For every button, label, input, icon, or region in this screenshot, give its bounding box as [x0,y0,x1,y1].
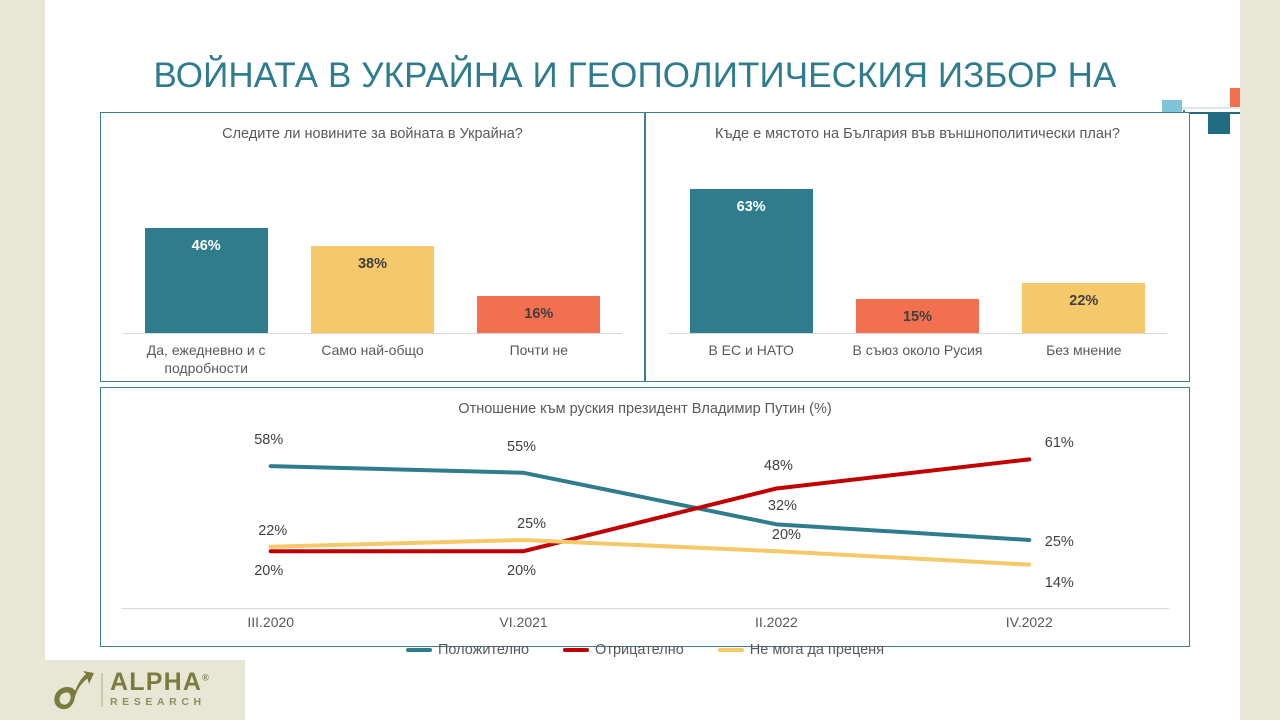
bar[interactable]: 16% [477,296,600,333]
chart-title-news: Следите ли новините за войната в Украйна… [109,125,636,145]
line-chart-putin: III.2020VI.2021II.2022IV.2022 Положителн… [121,436,1169,638]
alpha-arrow-icon [53,668,99,712]
bar-value-label: 46% [145,238,268,254]
bar-value-label: 15% [856,309,979,325]
plot-area-geopolitics: 63%15%22% [668,173,1167,333]
chart-panel-geopolitics: Къде е мястото на България във външнопол… [645,112,1190,382]
alpha-research-logo: ALPHA® RESEARCH [45,660,245,720]
bar-value-label: 38% [311,256,434,272]
data-point-label: 32% [768,498,797,514]
data-point-label: 55% [507,439,536,455]
x-axis-label: IV.2022 [969,614,1089,630]
axis-line-news [123,333,622,334]
x-axis-label: VI.2021 [464,614,584,630]
data-point-label: 14% [1045,575,1074,591]
data-point-label: 25% [517,516,546,532]
legend-item[interactable]: Не мога да преценя [718,642,884,658]
chart-title-putin: Отношение към руския президент Владимир … [109,400,1181,420]
registered-icon: ® [202,672,210,682]
bar[interactable]: 22% [1022,283,1145,333]
bar-column: 46% [123,173,289,333]
category-row-news: Да, ежедневно и с подробностиСамо най-об… [123,341,622,391]
legend-item[interactable]: Отрицателно [563,642,684,658]
data-point-label: 61% [1045,435,1074,451]
x-axis-line-putin [121,608,1169,609]
logo-wordmark: ALPHA® RESEARCH [110,670,210,711]
legend-swatch [563,648,589,652]
legend-swatch [718,648,744,652]
legend-label: Положително [438,642,529,658]
category-label: Без мнение [1001,341,1167,359]
bar-chart-news: 46%38%16% Да, ежедневно и с подробностиС… [123,173,622,371]
data-point-label: 58% [254,432,283,448]
category-label: В ЕС и НАТО [668,341,834,359]
axis-line-geopolitics [668,333,1167,334]
category-label: Да, ежедневно и с подробности [123,341,289,377]
category-label: В съюз около Русия [834,341,1000,359]
chart-panel-news: Следите ли новините за войната в Украйна… [100,112,645,382]
legend-swatch [406,648,432,652]
bar-column: 22% [1001,173,1167,333]
data-point-label: 22% [258,523,287,539]
page-title-line-1: ВОЙНАТА В УКРАЙНА И ГЕОПОЛИТИЧЕСКИЯ ИЗБО… [153,56,1116,95]
decor-square [1208,112,1230,134]
chart-title-geopolitics: Къде е мястото на България във външнопол… [654,125,1181,145]
line-series[interactable] [271,466,1030,540]
bar-value-label: 22% [1022,293,1145,309]
logo-alpha-text: ALPHA [110,668,202,696]
x-axis-labels-putin: III.2020VI.2021II.2022IV.2022 [121,614,1169,638]
bar-column: 63% [668,173,834,333]
logo-line-2: RESEARCH [110,695,210,711]
logo-line-1: ALPHA® [110,670,210,695]
bar-chart-geopolitics: 63%15%22% В ЕС и НАТОВ съюз около РусияБ… [668,173,1167,371]
bar[interactable]: 63% [690,189,813,333]
legend-item[interactable]: Положително [406,642,529,658]
category-row-geopolitics: В ЕС и НАТОВ съюз около РусияБез мнение [668,341,1167,391]
legend-label: Не мога да преценя [750,642,884,658]
logo-divider [101,673,103,707]
bar[interactable]: 38% [311,246,434,333]
bar-column: 15% [834,173,1000,333]
category-label: Само най-общо [289,341,455,359]
data-point-label: 20% [507,563,536,579]
chart-panel-putin: Отношение към руския президент Владимир … [100,387,1190,647]
bar-column: 16% [456,173,622,333]
data-point-label: 48% [764,458,793,474]
slide-canvas: ВОЙНАТА В УКРАЙНА И ГЕОПОЛИТИЧЕСКИЯ ИЗБО… [45,0,1240,720]
legend-putin: ПоложителноОтрицателноНе мога да преценя [121,642,1169,658]
bar-value-label: 16% [477,306,600,322]
bar[interactable]: 15% [856,299,979,333]
decor-square [1230,88,1240,108]
bar[interactable]: 46% [145,228,268,333]
x-axis-label: II.2022 [716,614,836,630]
legend-label: Отрицателно [595,642,684,658]
x-axis-label: III.2020 [211,614,331,630]
line-series[interactable] [271,459,1030,551]
bar-value-label: 63% [690,199,813,215]
category-label: Почти не [456,341,622,359]
data-point-label: 20% [254,563,283,579]
data-point-label: 25% [1045,534,1074,550]
bar-column: 38% [289,173,455,333]
plot-area-news: 46%38%16% [123,173,622,333]
data-point-label: 20% [772,527,801,543]
